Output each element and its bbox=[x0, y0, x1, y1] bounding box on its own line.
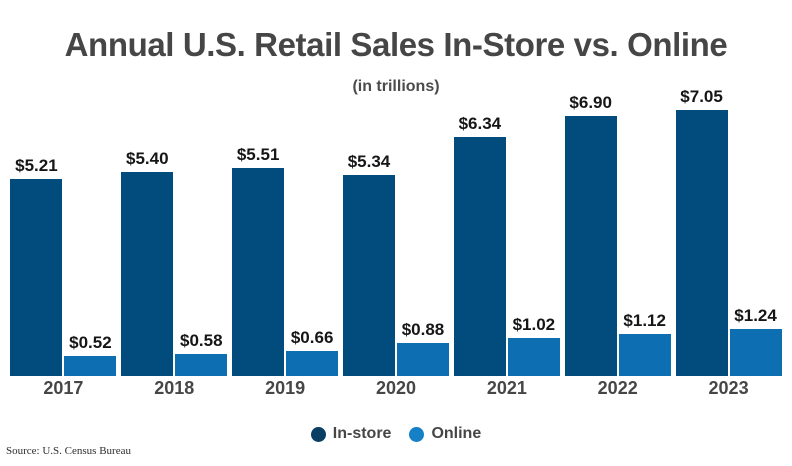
bar-online[interactable]: $1.02 bbox=[508, 110, 560, 376]
bar-online[interactable]: $1.12 bbox=[619, 110, 671, 376]
bar-group: $5.21$0.52 bbox=[8, 110, 119, 376]
x-axis-tick-2020: 2020 bbox=[341, 378, 452, 399]
bar-instore[interactable]: $7.05 bbox=[676, 110, 728, 376]
bar-rect bbox=[565, 116, 617, 376]
bar-rect bbox=[730, 329, 782, 376]
bar-value-label: $5.51 bbox=[237, 146, 280, 163]
bar-group: $5.40$0.58 bbox=[119, 110, 230, 376]
bar-value-label: $5.40 bbox=[126, 150, 169, 167]
bar-rect bbox=[343, 175, 395, 376]
bar-rect bbox=[232, 168, 284, 376]
retail-sales-bar-chart: Annual U.S. Retail Sales In-Store vs. On… bbox=[0, 0, 792, 466]
x-axis-tick-2022: 2022 bbox=[562, 378, 673, 399]
bar-rect bbox=[508, 338, 560, 376]
bar-value-label: $0.66 bbox=[291, 329, 334, 346]
bar-instore[interactable]: $6.90 bbox=[565, 110, 617, 376]
bar-value-label: $1.02 bbox=[513, 316, 556, 333]
bar-online[interactable]: $0.66 bbox=[286, 110, 338, 376]
legend-item-instore[interactable]: In-store bbox=[311, 425, 392, 443]
chart-title: Annual U.S. Retail Sales In-Store vs. On… bbox=[0, 26, 792, 64]
bar-value-label: $5.34 bbox=[348, 153, 391, 170]
bar-value-label: $7.05 bbox=[680, 88, 723, 105]
bar-online[interactable]: $0.52 bbox=[64, 110, 116, 376]
bar-group: $7.05$1.24 bbox=[673, 110, 784, 376]
source-note: Source: U.S. Census Bureau bbox=[6, 445, 131, 457]
legend-item-online[interactable]: Online bbox=[409, 425, 481, 443]
x-axis-tick-2021: 2021 bbox=[451, 378, 562, 399]
x-axis-tick-2018: 2018 bbox=[119, 378, 230, 399]
legend-label: Online bbox=[431, 425, 481, 443]
x-axis-tick-2023: 2023 bbox=[673, 378, 784, 399]
bar-rect bbox=[175, 354, 227, 376]
bar-instore[interactable]: $5.21 bbox=[10, 110, 62, 376]
bar-value-label: $0.52 bbox=[69, 334, 112, 351]
bar-rect bbox=[10, 179, 62, 376]
legend-label: In-store bbox=[333, 425, 392, 443]
chart-legend: In-storeOnline bbox=[0, 425, 792, 443]
bar-rect bbox=[121, 172, 173, 376]
bar-group: $5.51$0.66 bbox=[230, 110, 341, 376]
legend-swatch-circle-icon bbox=[409, 427, 424, 442]
bar-online[interactable]: $1.24 bbox=[730, 110, 782, 376]
bar-instore[interactable]: $5.34 bbox=[343, 110, 395, 376]
bar-value-label: $1.24 bbox=[734, 307, 777, 324]
bar-value-label: $6.90 bbox=[569, 94, 612, 111]
bar-instore[interactable]: $5.40 bbox=[121, 110, 173, 376]
bar-rect bbox=[397, 343, 449, 376]
bar-instore[interactable]: $5.51 bbox=[232, 110, 284, 376]
bar-rect bbox=[454, 137, 506, 376]
bar-instore[interactable]: $6.34 bbox=[454, 110, 506, 376]
bar-value-label: $0.88 bbox=[402, 321, 445, 338]
bar-value-label: $1.12 bbox=[623, 312, 666, 329]
x-axis-tick-2019: 2019 bbox=[230, 378, 341, 399]
bar-rect bbox=[676, 110, 728, 376]
bar-value-label: $0.58 bbox=[180, 332, 223, 349]
legend-swatch-circle-icon bbox=[311, 427, 326, 442]
bar-online[interactable]: $0.88 bbox=[397, 110, 449, 376]
bar-online[interactable]: $0.58 bbox=[175, 110, 227, 376]
chart-subtitle: (in trillions) bbox=[0, 78, 792, 96]
bar-value-label: $5.21 bbox=[15, 157, 58, 174]
bar-group: $6.34$1.02 bbox=[451, 110, 562, 376]
x-axis-labels: 2017201820192020202120222023 bbox=[8, 378, 784, 404]
bar-rect bbox=[64, 356, 116, 376]
bar-group: $5.34$0.88 bbox=[341, 110, 452, 376]
bar-group: $6.90$1.12 bbox=[562, 110, 673, 376]
bar-rect bbox=[286, 351, 338, 376]
plot-area: $5.21$0.52$5.40$0.58$5.51$0.66$5.34$0.88… bbox=[8, 110, 784, 376]
x-axis-tick-2017: 2017 bbox=[8, 378, 119, 399]
bar-value-label: $6.34 bbox=[459, 115, 502, 132]
bar-rect bbox=[619, 334, 671, 376]
